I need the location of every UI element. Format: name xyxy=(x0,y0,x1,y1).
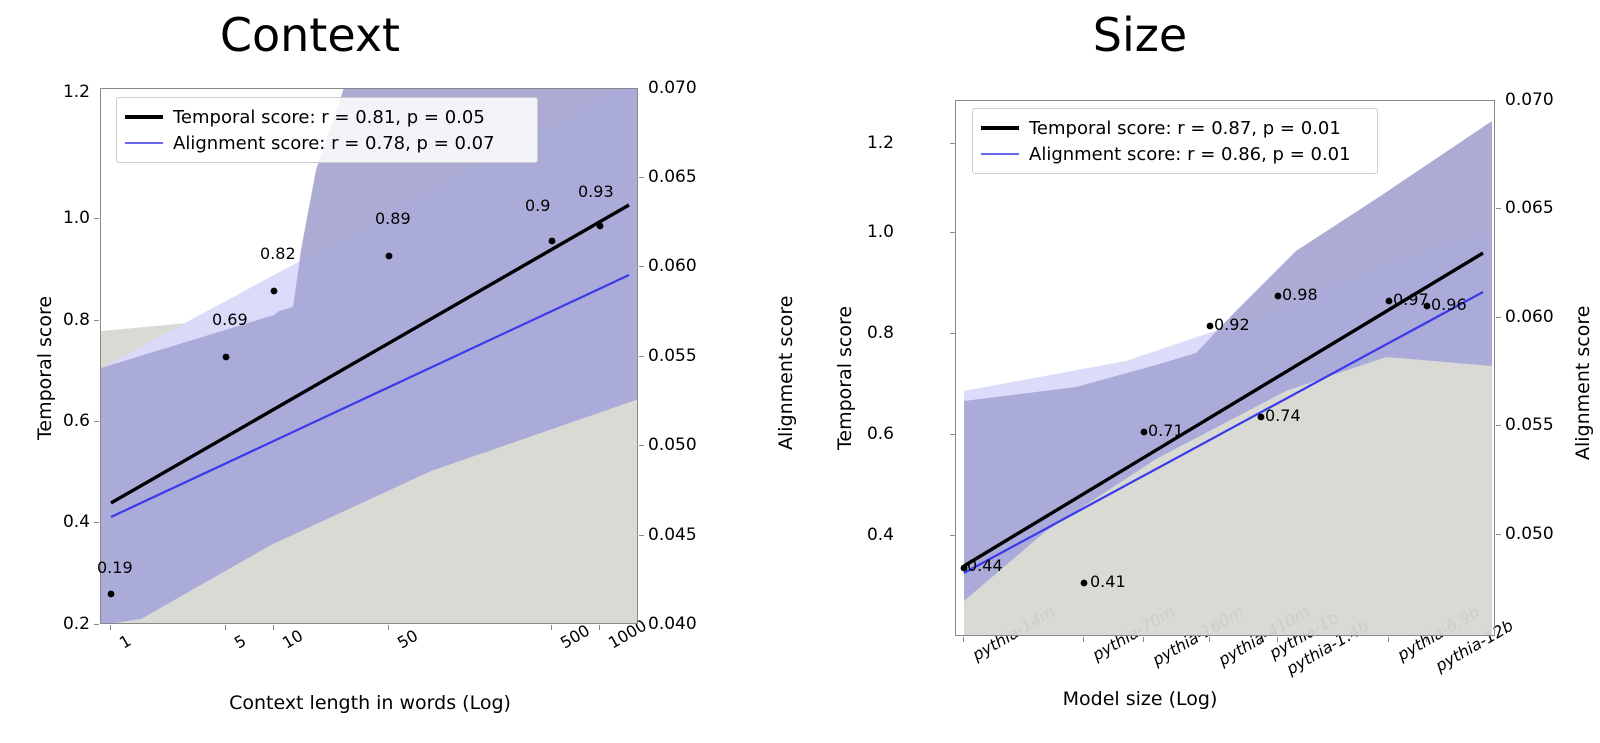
data-point xyxy=(386,253,393,260)
xtick-mark-context-4 xyxy=(551,625,552,630)
legend-item-alignment-context[interactable]: Alignment score: r = 0.78, p = 0.07 xyxy=(125,130,527,156)
ytick-right-context-3: 0.055 xyxy=(648,346,718,366)
xtick-label-size-2: pythia-160m xyxy=(1149,653,1159,669)
ytick-left-context-1: 0.4 xyxy=(38,512,90,532)
plot-svg-context xyxy=(101,89,637,623)
legend-item-alignment-size[interactable]: Alignment score: r = 0.86, p = 0.01 xyxy=(981,141,1367,167)
point-label-size-3: 0.92 xyxy=(1214,317,1250,333)
ytick-right-context-0: 0.040 xyxy=(648,614,718,634)
point-label-size-6: 0.97 xyxy=(1393,292,1429,308)
point-label-context-4: 0.9 xyxy=(525,198,550,214)
xtick-mark-context-1 xyxy=(225,625,226,630)
ytick-right-context-2: 0.050 xyxy=(648,435,718,455)
plot-area-size xyxy=(955,100,1495,636)
plot-clip-size xyxy=(956,101,1494,635)
ytick-left-size-3: 1.0 xyxy=(838,222,894,242)
ytick-left-context-0: 0.2 xyxy=(38,614,90,634)
xtick-label-size-1: pythia-70m xyxy=(1089,648,1099,664)
ytick-right-mark-context-5 xyxy=(639,177,644,178)
legend-line-temporal-icon xyxy=(981,126,1019,130)
ytick-right-mark-context-2 xyxy=(639,445,644,446)
xtick-label-context-1: 5 xyxy=(231,636,241,652)
ytick-right-context-1: 0.045 xyxy=(648,525,718,545)
x-axis-title-size: Model size (Log) xyxy=(890,688,1390,710)
data-point xyxy=(1207,323,1214,330)
legend-line-alignment-icon xyxy=(981,153,1019,155)
point-label-size-7: 0.96 xyxy=(1431,297,1467,313)
ytick-left-context-4: 1.0 xyxy=(38,208,90,228)
point-label-context-5: 0.93 xyxy=(578,184,614,200)
ytick-left-size-0: 0.4 xyxy=(838,525,894,545)
data-point xyxy=(271,288,278,295)
point-label-size-5: 0.98 xyxy=(1282,287,1318,303)
xtick-label-context-0: 1 xyxy=(116,636,126,652)
ytick-left-context-3: 0.8 xyxy=(38,310,90,330)
data-point xyxy=(1386,298,1393,305)
point-label-context-1: 0.69 xyxy=(212,312,248,328)
xtick-label-context-3: 50 xyxy=(394,636,404,652)
xtick-label-size-5: pythia-1.4b xyxy=(1283,662,1293,678)
plot-clip-context xyxy=(101,89,637,623)
ytick-right-mark-size-1 xyxy=(1496,425,1501,426)
data-point xyxy=(223,354,230,361)
ytick-mark-context-0 xyxy=(94,624,99,625)
ytick-right-context-6: 0.070 xyxy=(648,78,718,98)
xtick-label-size-4: pythia-1b xyxy=(1266,646,1276,662)
xtick-label-size-7: pythia-12b xyxy=(1432,659,1442,675)
point-label-context-0: 0.19 xyxy=(97,560,133,576)
legend-item-temporal-size[interactable]: Temporal score: r = 0.87, p = 0.01 xyxy=(981,115,1367,141)
xtick-mark-context-2 xyxy=(273,625,274,630)
legend-label-alignment-size: Alignment score: r = 0.86, p = 0.01 xyxy=(1029,144,1351,165)
point-label-size-1: 0.41 xyxy=(1090,574,1126,590)
ytick-right-mark-size-2 xyxy=(1496,317,1501,318)
figure-root: Context Temporal score Alignment score C… xyxy=(0,0,1600,743)
x-axis-title-context: Context length in words (Log) xyxy=(120,692,620,714)
ytick-right-mark-context-3 xyxy=(639,356,644,357)
ytick-mark-context-2 xyxy=(94,421,99,422)
legend-line-temporal-icon xyxy=(125,115,163,119)
legend-size: Temporal score: r = 0.87, p = 0.01 Align… xyxy=(972,108,1378,174)
ytick-right-mark-size-3 xyxy=(1496,208,1501,209)
ytick-right-context-5: 0.065 xyxy=(648,167,718,187)
panel-context: Context Temporal score Alignment score C… xyxy=(0,0,800,743)
panel-title-context: Context xyxy=(0,6,620,64)
plot-svg-size xyxy=(956,101,1494,635)
ytick-right-size-4: 0.070 xyxy=(1505,90,1579,110)
legend-item-temporal-context[interactable]: Temporal score: r = 0.81, p = 0.05 xyxy=(125,104,527,130)
y-axis-title-right-context: Alignment score xyxy=(775,296,797,450)
ytick-right-mark-context-4 xyxy=(639,266,644,267)
data-point xyxy=(1275,293,1282,300)
xtick-label-context-2: 10 xyxy=(279,636,289,652)
point-label-size-2: 0.71 xyxy=(1148,423,1184,439)
ytick-left-size-4: 1.2 xyxy=(838,133,894,153)
ytick-right-size-2: 0.060 xyxy=(1505,307,1579,327)
xtick-mark-context-0 xyxy=(110,625,111,630)
ytick-right-mark-size-0 xyxy=(1496,534,1501,535)
data-point xyxy=(597,223,604,230)
xtick-label-context-4: 500 xyxy=(557,636,567,652)
ytick-right-size-0: 0.050 xyxy=(1505,524,1579,544)
ytick-right-mark-context-1 xyxy=(639,535,644,536)
xtick-mark-size-1 xyxy=(1083,637,1084,642)
data-point xyxy=(1081,580,1088,587)
legend-context: Temporal score: r = 0.81, p = 0.05 Align… xyxy=(116,97,538,163)
data-point xyxy=(1141,429,1148,436)
xtick-mark-size-0 xyxy=(963,637,964,642)
xtick-label-context-5: 1000 xyxy=(605,636,615,652)
ytick-left-size-2: 0.8 xyxy=(838,323,894,343)
ytick-right-size-1: 0.055 xyxy=(1505,415,1579,435)
xtick-mark-context-5 xyxy=(599,625,600,630)
legend-label-temporal-context: Temporal score: r = 0.81, p = 0.05 xyxy=(173,107,485,128)
xtick-label-size-0: pythia-14m xyxy=(969,648,979,664)
legend-line-alignment-icon xyxy=(125,142,163,144)
ytick-mark-context-1 xyxy=(94,522,99,523)
plot-area-context xyxy=(100,88,638,624)
legend-label-alignment-context: Alignment score: r = 0.78, p = 0.07 xyxy=(173,133,495,154)
xtick-label-size-3: pythia-410m xyxy=(1215,653,1225,669)
data-point xyxy=(549,238,556,245)
data-point xyxy=(108,591,115,598)
point-label-context-3: 0.89 xyxy=(375,211,411,227)
legend-label-temporal-size: Temporal score: r = 0.87, p = 0.01 xyxy=(1029,118,1341,139)
ytick-right-context-4: 0.060 xyxy=(648,256,718,276)
panel-size: Size Temporal score Alignment score Mode… xyxy=(800,0,1600,743)
panel-title-size: Size xyxy=(800,6,1480,64)
point-label-context-2: 0.82 xyxy=(260,246,296,262)
ytick-right-size-3: 0.065 xyxy=(1505,198,1579,218)
ytick-left-size-1: 0.6 xyxy=(838,424,894,444)
y-axis-title-right-size: Alignment score xyxy=(1572,306,1594,460)
point-label-size-0: 0.44 xyxy=(967,558,1003,574)
xtick-mark-context-3 xyxy=(388,625,389,630)
data-point xyxy=(1258,414,1265,421)
xtick-mark-size-6 xyxy=(1388,637,1389,642)
ytick-left-context-5: 1.2 xyxy=(38,82,90,102)
ytick-left-context-2: 0.6 xyxy=(38,411,90,431)
ytick-mark-context-4 xyxy=(94,218,99,219)
point-label-size-4: 0.74 xyxy=(1265,408,1301,424)
xtick-label-size-6: pythia-6.9b xyxy=(1394,648,1404,664)
ytick-mark-context-3 xyxy=(94,320,99,321)
